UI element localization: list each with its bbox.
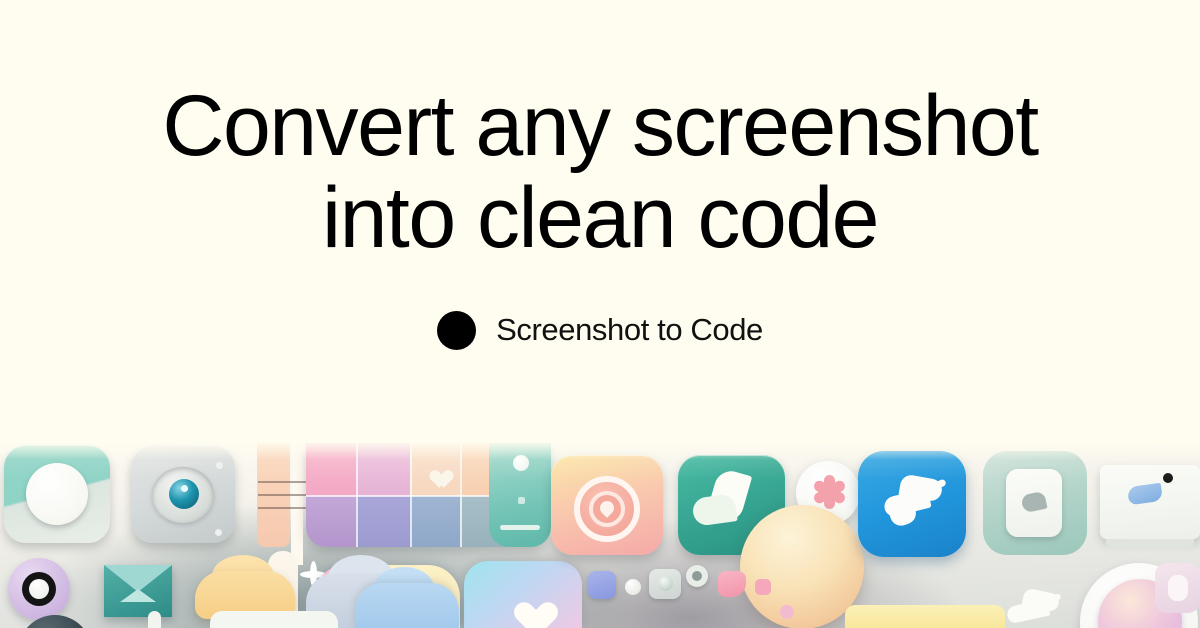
mail-fold <box>120 589 156 602</box>
micro-dot <box>625 579 641 595</box>
heart-icon <box>506 589 546 625</box>
heart-icon <box>425 463 447 483</box>
micro-heart-icon <box>718 571 746 597</box>
white-bird <box>1005 591 1061 627</box>
brand-row: Screenshot to Code <box>437 311 763 350</box>
mail-icon <box>104 565 172 592</box>
illustration-strip <box>0 443 1200 628</box>
micro-lens-icon <box>658 576 673 591</box>
headline-line-2: into clean code <box>162 172 1037 264</box>
yellow-bar-tile <box>845 605 1005 628</box>
filled-circle-icon <box>437 311 476 350</box>
camera-dot <box>215 529 222 536</box>
phone-sensor <box>518 497 525 504</box>
camera-dot <box>216 462 223 469</box>
star-icon <box>812 475 846 509</box>
ring-core <box>29 579 49 599</box>
micro-pink-dot <box>780 605 794 619</box>
micro-ring-core <box>692 571 702 581</box>
white-circle-icon <box>26 463 88 525</box>
camera-lens-icon <box>169 479 199 509</box>
og-card: Convert any screenshot into clean code S… <box>0 0 1200 628</box>
micro-tile-blue <box>588 571 616 599</box>
bird-eye <box>1163 473 1173 483</box>
hero-section: Convert any screenshot into clean code S… <box>0 0 1200 443</box>
white-pawn <box>148 611 161 628</box>
twitter-bird-icon <box>880 475 944 527</box>
white-rounded-card <box>210 611 338 628</box>
pink-tile-inner <box>1168 575 1188 601</box>
brand-name: Screenshot to Code <box>496 312 763 348</box>
line-stack-icon <box>258 481 306 511</box>
phone-bar <box>500 525 540 530</box>
card-base <box>1106 539 1194 548</box>
page-title: Convert any screenshot into clean code <box>162 80 1037 264</box>
lens-highlight <box>181 485 188 492</box>
micro-pink-square <box>755 579 771 595</box>
phone-camera-dot <box>513 455 529 471</box>
blue-cloud <box>355 583 459 628</box>
headline-line-1: Convert any screenshot <box>162 80 1037 172</box>
